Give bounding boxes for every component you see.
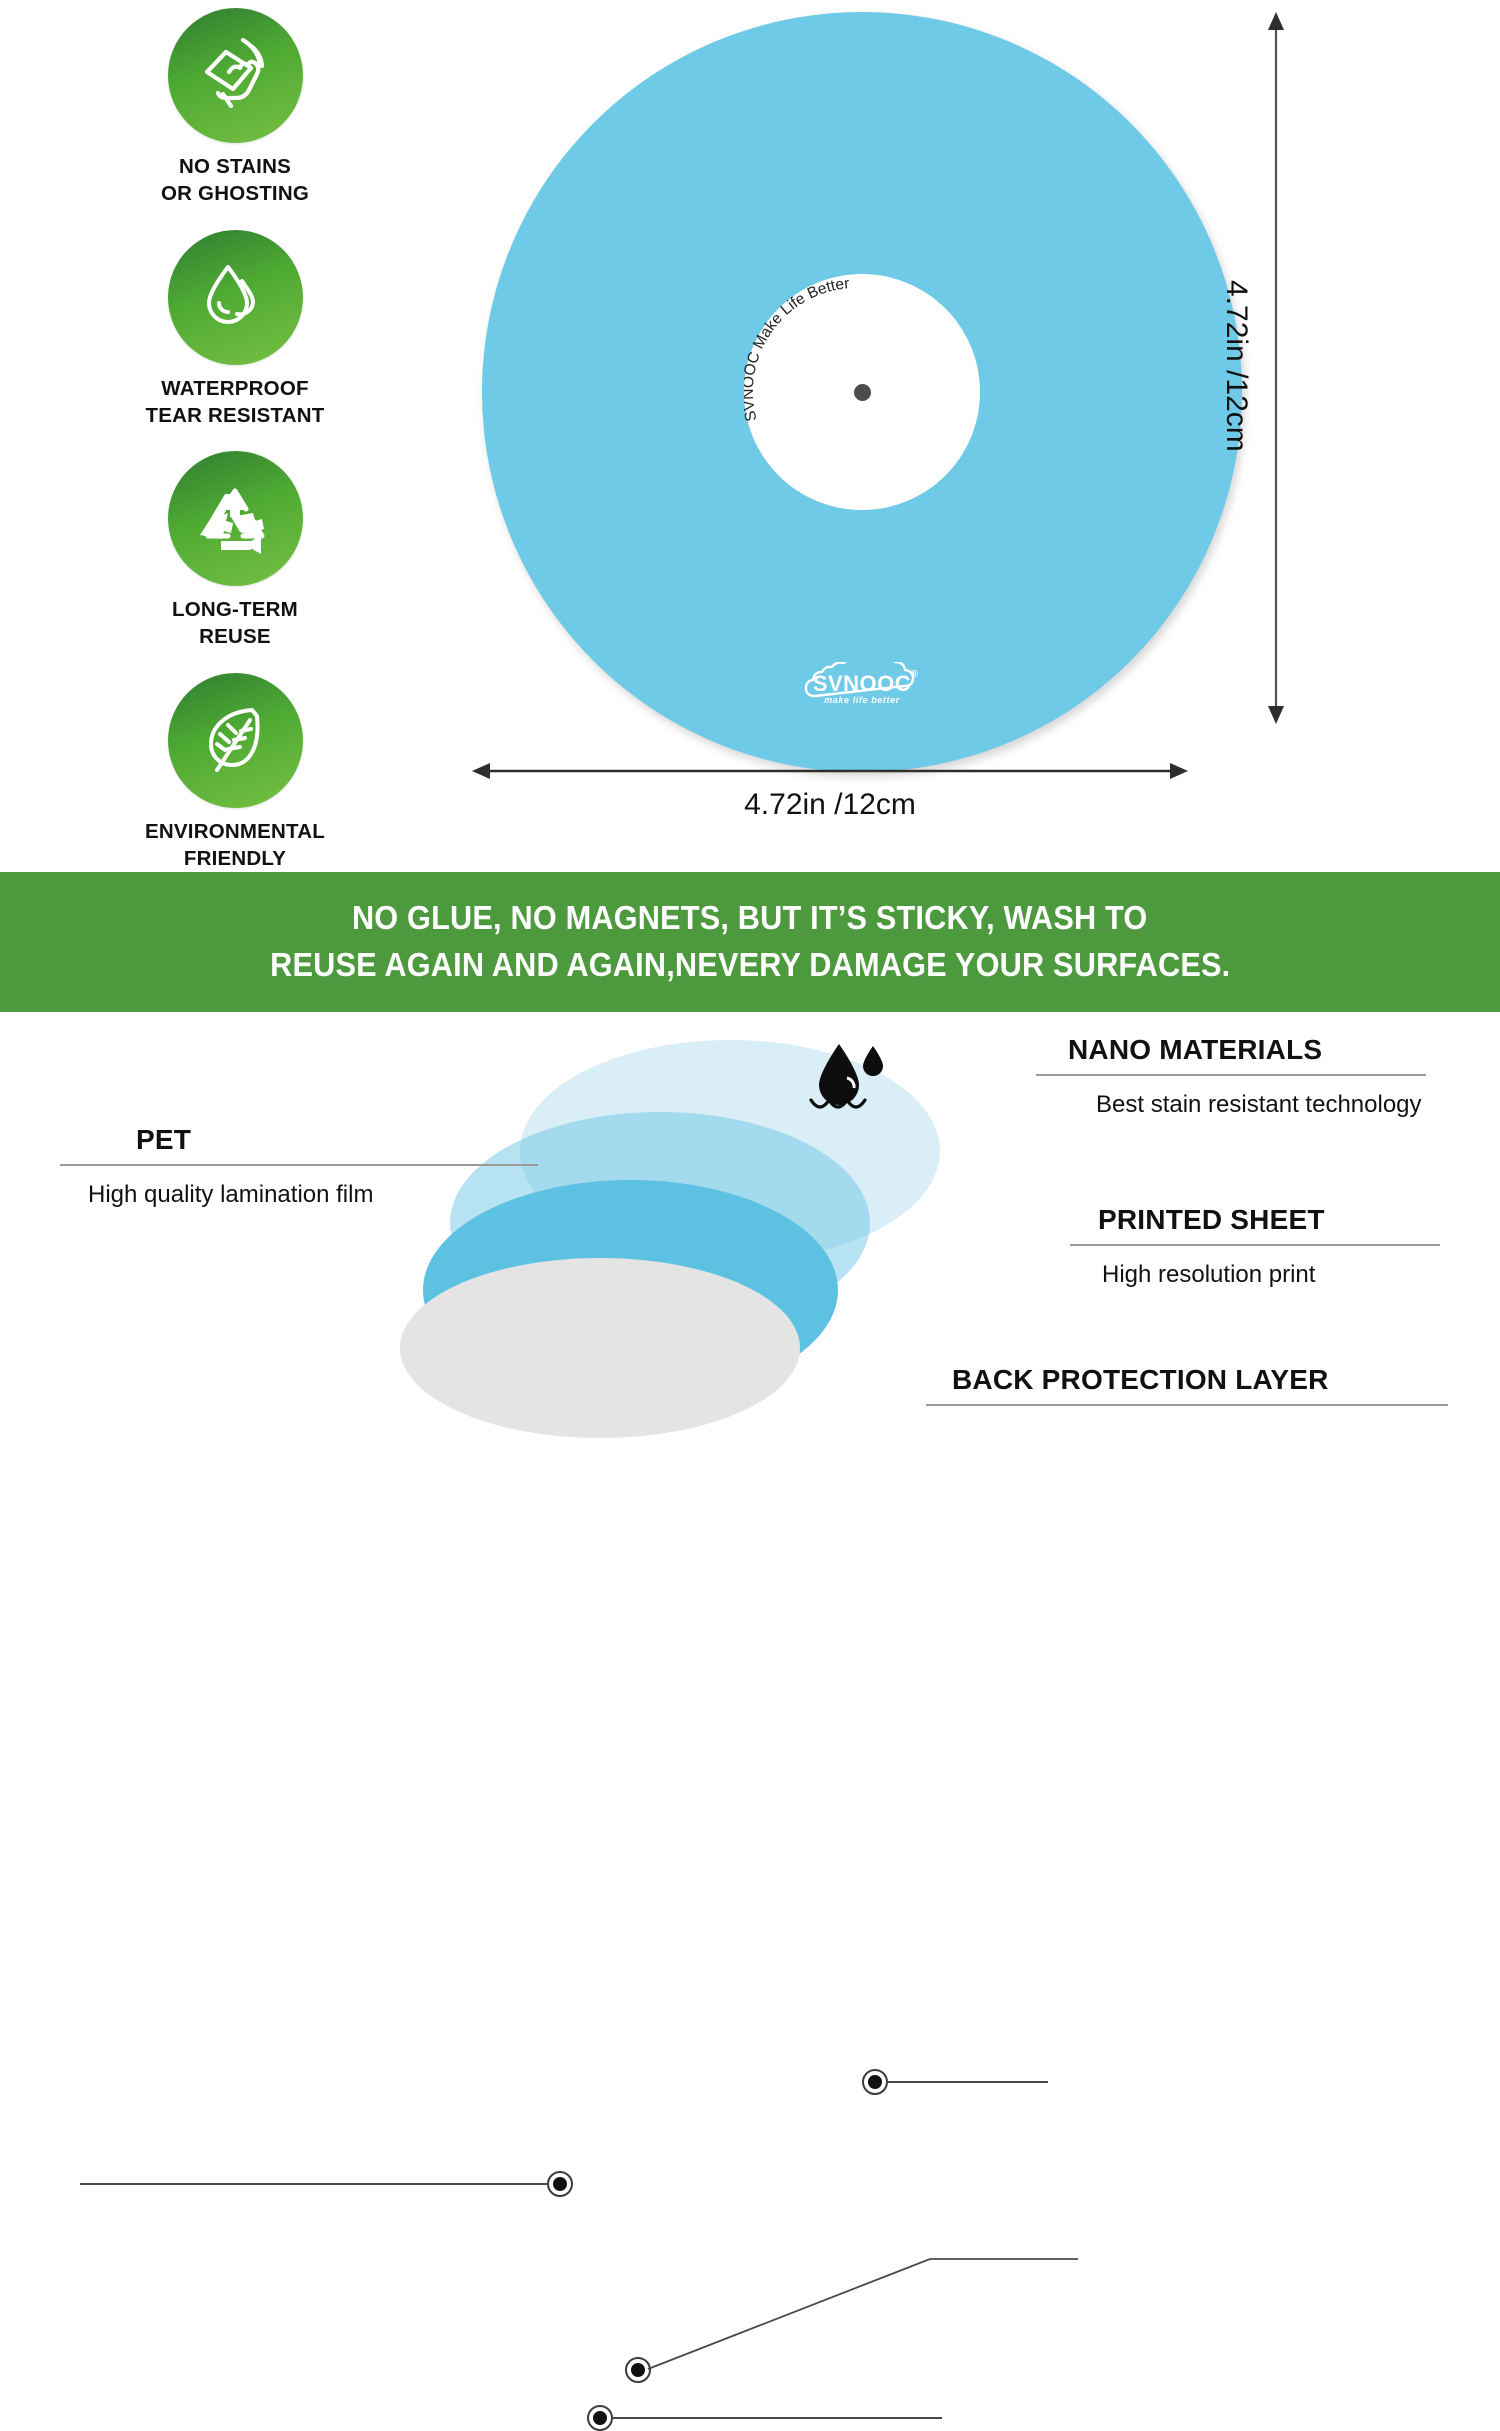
leader-dot-pet [547,2171,573,2197]
feature-item-waterproof: WATERPROOF TEAR RESISTANT [90,230,380,430]
logo-registered-mark: ® [911,669,918,680]
water-drop-icon [168,230,303,365]
logo-tagline: make life better [797,695,927,705]
svg-text:SVNOOC Make Life Better: SVNOOC Make Life Better [744,275,850,423]
disc-spindle-hole [854,384,871,401]
callout-title: NANO MATERIALS [1068,1034,1458,1066]
feature-item-no-stains: NO STAINS OR GHOSTING [90,8,380,208]
callout-title: PET [88,1124,548,1156]
feature-label-line1: NO STAINS [179,155,291,178]
svnooc-logo: SVNOOC ® make life better [797,662,927,714]
product-disc: SVNOOC Make Life Better SVNOOC ® make li… [482,12,1242,772]
layer-stack-diagram [395,1020,985,1430]
leader-line-back [612,2417,942,2419]
callout-rule [1070,1244,1440,1246]
feature-list: NO STAINS OR GHOSTING WATERPROOF TEAR RE… [90,8,380,894]
leader-line-printed [640,2247,1080,2377]
feature-label-line2: OR GHOSTING [161,182,309,205]
dimension-arrow-horizontal [470,752,1190,790]
callout-rule [1036,1074,1426,1076]
feature-label-line2: REUSE [199,625,271,648]
disc-arc-text-label: SVNOOC Make Life Better [744,275,850,423]
callout-back-protection-layer: BACK PROTECTION LAYER [952,1364,1452,1416]
feature-label: LONG-TERM REUSE [90,596,380,651]
banner-line-1: NO GLUE, NO MAGNETS, BUT IT’S STICKY, WA… [352,895,1148,942]
feature-label-line2: FRIENDLY [184,847,286,870]
feature-label-line2: TEAR RESISTANT [146,404,325,427]
feature-label: ENVIRONMENTAL FRIENDLY [90,818,380,873]
feature-label: WATERPROOF TEAR RESISTANT [90,375,380,430]
callout-nano-materials: NANO MATERIALS Best stain resistant tech… [1068,1034,1458,1124]
feature-label-line1: LONG-TERM [172,598,298,621]
callout-rule [60,1164,538,1166]
callout-title: BACK PROTECTION LAYER [952,1364,1452,1396]
dimension-label-width: 4.72in /12cm [470,788,1190,822]
callout-desc: High quality lamination film [88,1176,548,1215]
feature-label: NO STAINS OR GHOSTING [90,153,380,208]
feature-item-long-term-reuse: LONG-TERM REUSE [90,451,380,651]
callout-printed-sheet: PRINTED SHEET High resolution print [1098,1204,1458,1294]
leader-line-nano [888,2081,1048,2083]
water-drop-splash-icon [805,1038,915,1118]
leaf-icon [168,673,303,808]
wipe-cloth-icon [168,8,303,143]
leader-dot-nano [862,2069,888,2095]
dimension-arrow-vertical [1258,10,1294,726]
dimension-label-height: 4.72in /12cm [1219,280,1253,452]
product-disc-area: SVNOOC Make Life Better SVNOOC ® make li… [470,0,1270,800]
callout-title: PRINTED SHEET [1098,1204,1458,1236]
callout-pet: PET High quality lamination film [88,1124,548,1214]
feature-label-line1: ENVIRONMENTAL [145,820,325,843]
layer-structure-section: NANO MATERIALS Best stain resistant tech… [0,1012,1500,1433]
feature-label-line1: WATERPROOF [161,377,308,400]
layer-disc-back [400,1258,800,1438]
logo-wordmark: SVNOOC [797,671,927,697]
callout-rule [926,1404,1448,1406]
marketing-banner: NO GLUE, NO MAGNETS, BUT IT’S STICKY, WA… [0,872,1500,1012]
callout-desc: Best stain resistant technology [1068,1086,1458,1125]
callout-desc: High resolution print [1098,1256,1458,1295]
banner-line-2: REUSE AGAIN AND AGAIN,NEVERY DAMAGE YOUR… [270,942,1230,989]
leader-dot-back [587,2405,613,2431]
leader-line-pet [80,2183,548,2185]
top-product-section: NO STAINS OR GHOSTING WATERPROOF TEAR RE… [0,0,1500,872]
feature-item-environmental-friendly: ENVIRONMENTAL FRIENDLY [90,673,380,873]
recycle-icon [168,451,303,586]
